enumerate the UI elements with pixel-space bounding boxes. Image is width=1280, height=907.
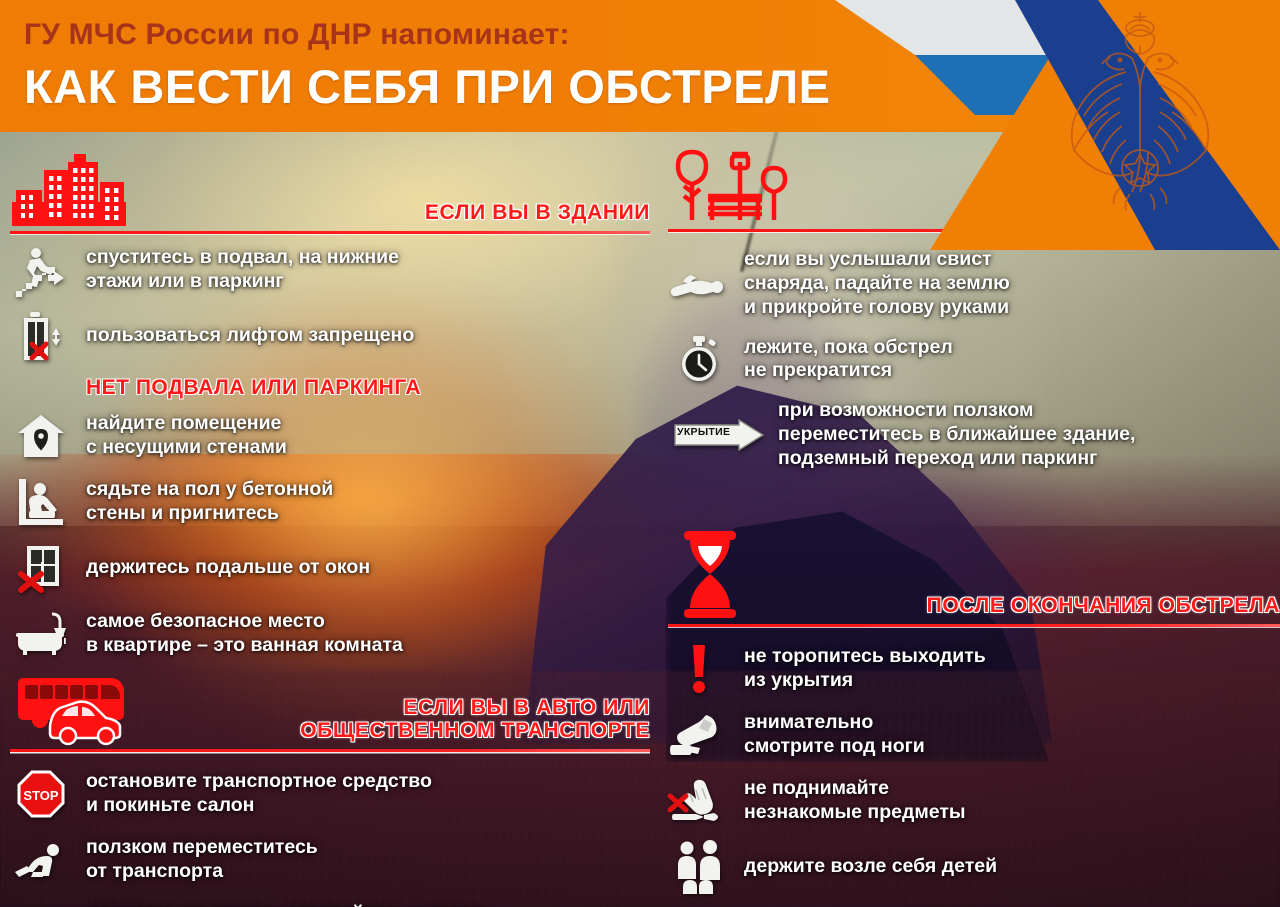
building-items-2: найдите помещение с несущими стенами <box>10 410 650 660</box>
page-title: КАК ВЕСТИ СЕБЯ ПРИ ОБСТРЕЛЕ <box>24 59 830 114</box>
section-divider <box>10 749 650 752</box>
hand-forbidden-shell-icon <box>668 775 730 827</box>
transport-items: STOP остановите транспортное средство и … <box>10 768 650 907</box>
list-item-text: при возможности ползком переместитесь в … <box>778 399 1135 470</box>
list-item: спуститесь в подвал, на нижние этажи или… <box>10 244 650 296</box>
boot-watch-step-icon <box>668 709 730 761</box>
section-divider <box>10 231 650 234</box>
stopwatch-icon <box>668 333 730 385</box>
section-divider <box>668 624 1280 627</box>
section-divider <box>668 229 1280 232</box>
list-item: ползком переместитесь от транспорта <box>10 834 650 886</box>
hourglass-icon <box>668 529 752 621</box>
header-subtitle: ГУ МЧС России по ДНР напоминает: <box>24 18 570 52</box>
section-after: ПОСЛЕ ОКОНЧАНИЯ ОБСТРЕЛА <box>668 529 1280 627</box>
list-item: пользоваться лифтом запрещено <box>10 310 650 362</box>
list-item-text: лежите, пока обстрел не прекратится <box>744 336 953 384</box>
list-item-text: не торопитесь выходить из укрытия <box>744 645 986 693</box>
family-children-icon <box>668 841 730 893</box>
infographic-poster: ГУ МЧС России по ДНР напоминает: КАК ВЕС… <box>0 0 1280 907</box>
mchs-eagle-emblem-icon <box>1060 6 1220 224</box>
section-title-transport: ЕСЛИ ВЫ В АВТО ИЛИ ОБЩЕСТВЕННОМ ТРАНСПОР… <box>148 696 650 746</box>
elevator-forbidden-icon <box>10 310 72 362</box>
list-item-text: остановите транспортное средство и покин… <box>86 770 432 818</box>
after-items: не торопитесь выходить из укрытия <box>668 643 1280 893</box>
list-item: держитесь подальше от окон <box>10 542 650 594</box>
person-lying-prone-icon <box>10 900 72 907</box>
right-column: ЕСЛИ ВЫ НА УЛИЦЕ ес <box>668 150 1280 907</box>
list-item: лежите, пока обстрел не прекратится <box>668 333 1280 385</box>
list-item-text: спуститесь в подвал, на нижние этажи или… <box>86 246 399 294</box>
person-sitting-wall-icon <box>10 476 72 528</box>
list-item: если вы услышали свист снаряда, падайте … <box>668 248 1280 319</box>
bus-and-car-icon <box>10 674 138 746</box>
person-lying-prone-icon <box>668 258 730 310</box>
section-title-after: ПОСЛЕ ОКОНЧАНИЯ ОБСТРЕЛА <box>762 594 1280 621</box>
street-items: если вы услышали свист снаряда, падайте … <box>668 248 1280 471</box>
list-item: ложитесь на землю, оставайтесь в таком п… <box>10 900 650 907</box>
park-bench-trees-icon <box>668 150 798 226</box>
list-item-text: держите возле себя детей <box>744 855 997 879</box>
list-item-text: найдите помещение с несущими стенами <box>86 412 287 460</box>
list-item: не торопитесь выходить из укрытия <box>668 643 1280 695</box>
list-item: сядьте на пол у бетонной стены и пригнит… <box>10 476 650 528</box>
window-forbidden-icon <box>10 542 72 594</box>
person-crawling-icon <box>10 834 72 886</box>
list-item-text: пользоваться лифтом запрещено <box>86 324 414 348</box>
list-item-text: держитесь подальше от окон <box>86 556 370 580</box>
section-transport: ЕСЛИ ВЫ В АВТО ИЛИ ОБЩЕСТВЕННОМ ТРАНСПОР… <box>10 674 650 752</box>
bathtub-shower-icon <box>10 608 72 660</box>
list-item: не поднимайте незнакомые предметы <box>668 775 1280 827</box>
list-item: самое безопасное место в квартире – это … <box>10 608 650 660</box>
list-item-text: ложитесь на землю, оставайтесь в таком п… <box>86 902 487 907</box>
city-buildings-icon <box>10 140 128 228</box>
section-title-building: ЕСЛИ ВЫ В ЗДАНИИ <box>138 201 650 228</box>
stop-sign-icon: STOP <box>10 768 72 820</box>
list-item: УКРЫТИЕ при возможности ползком перемест… <box>668 399 1280 470</box>
list-item: внимательно смотрите под ноги <box>668 709 1280 761</box>
list-item-text: ползком переместитесь от транспорта <box>86 836 318 884</box>
shelter-sign-label: УКРЫТИЕ <box>677 426 730 438</box>
stairs-down-icon <box>10 244 72 296</box>
list-item: найдите помещение с несущими стенами <box>10 410 650 462</box>
building-items: спуститесь в подвал, на нижние этажи или… <box>10 244 650 362</box>
list-item-text: самое безопасное место в квартире – это … <box>86 610 403 658</box>
house-shelter-icon <box>10 410 72 462</box>
list-item-text: если вы услышали свист снаряда, падайте … <box>744 248 1010 319</box>
list-item: STOP остановите транспортное средство и … <box>10 768 650 820</box>
list-item-text: внимательно смотрите под ноги <box>744 711 925 759</box>
list-item-text: не поднимайте незнакомые предметы <box>744 777 966 825</box>
subheading-no-basement: НЕТ ПОДВАЛА ИЛИ ПАРКИНГА <box>86 376 650 400</box>
list-item: держите возле себя детей <box>668 841 1280 893</box>
section-building: ЕСЛИ ВЫ В ЗДАНИИ <box>10 140 650 234</box>
list-item-text: сядьте на пол у бетонной стены и пригнит… <box>86 478 333 526</box>
exclamation-mark-icon <box>668 643 730 695</box>
left-column: ЕСЛИ ВЫ В ЗДАНИИ <box>10 140 650 907</box>
shelter-arrow-sign-icon: УКРЫТИЕ <box>668 409 764 461</box>
svg-text:STOP: STOP <box>23 788 58 803</box>
